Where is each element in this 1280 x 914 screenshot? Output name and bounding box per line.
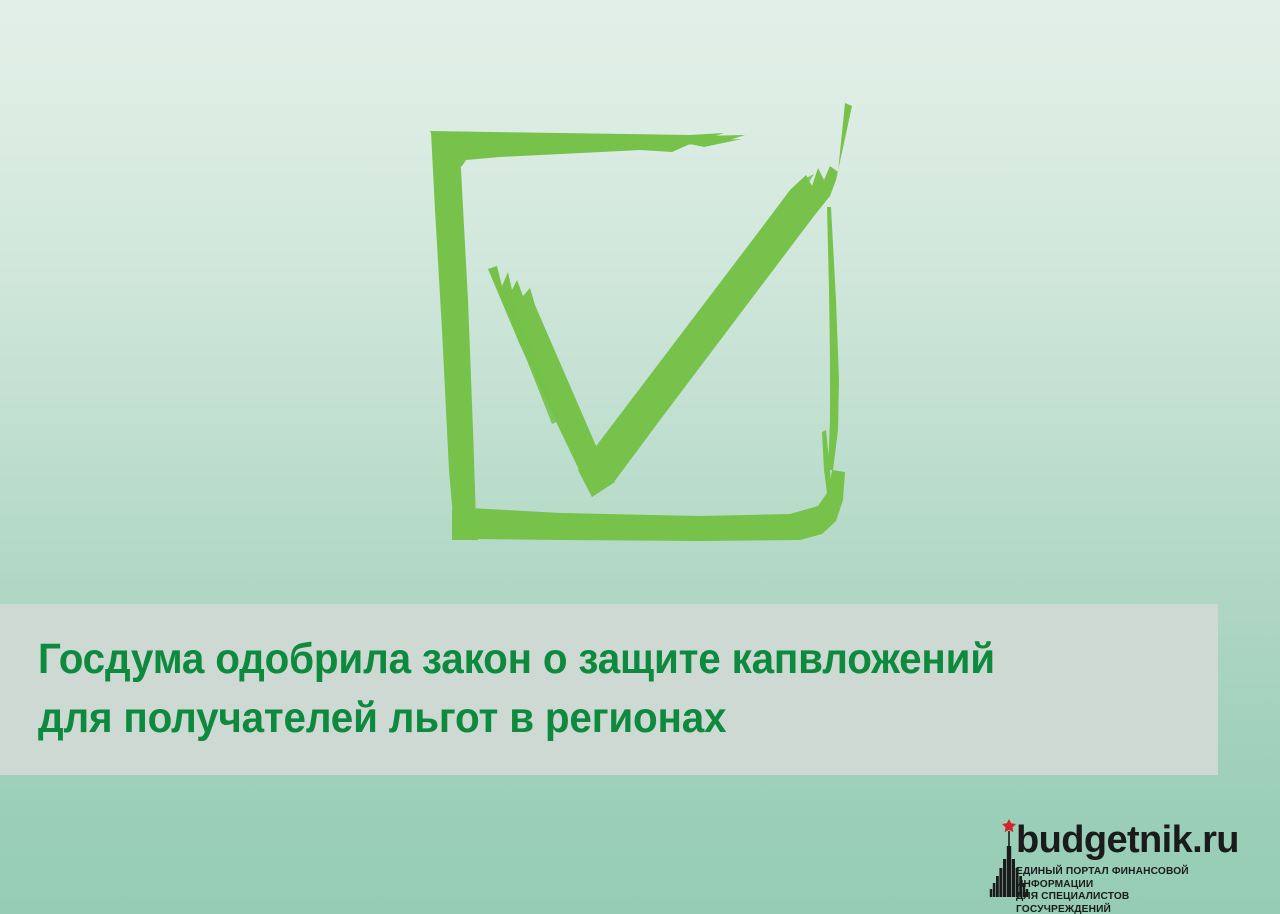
checkbox-square-strokes [430, 131, 845, 541]
red-star-shape [1002, 819, 1016, 832]
site-logo[interactable]: budgetnik.ru ЕДИНЫЙ ПОРТАЛ ФИНАНСОВОЙ ИН… [986, 817, 1226, 899]
news-card: Госдума одобрила закон о защите капвложе… [0, 0, 1280, 914]
logo-wordmark: budgetnik.ru [1016, 817, 1228, 863]
logo-tagline: ЕДИНЫЙ ПОРТАЛ ФИНАНСОВОЙ ИНФОРМАЦИИ ДЛЯ … [1016, 863, 1222, 914]
check-mark-stroke [488, 103, 852, 497]
page-title: Госдума одобрила закон о защите капвложе… [38, 630, 1128, 748]
headline-banner: Госдума одобрила закон о защите капвложе… [0, 604, 1218, 775]
logo-text-block: budgetnik.ru ЕДИНЫЙ ПОРТАЛ ФИНАНСОВОЙ ИН… [1016, 817, 1228, 914]
hero-illustration [0, 0, 1280, 604]
